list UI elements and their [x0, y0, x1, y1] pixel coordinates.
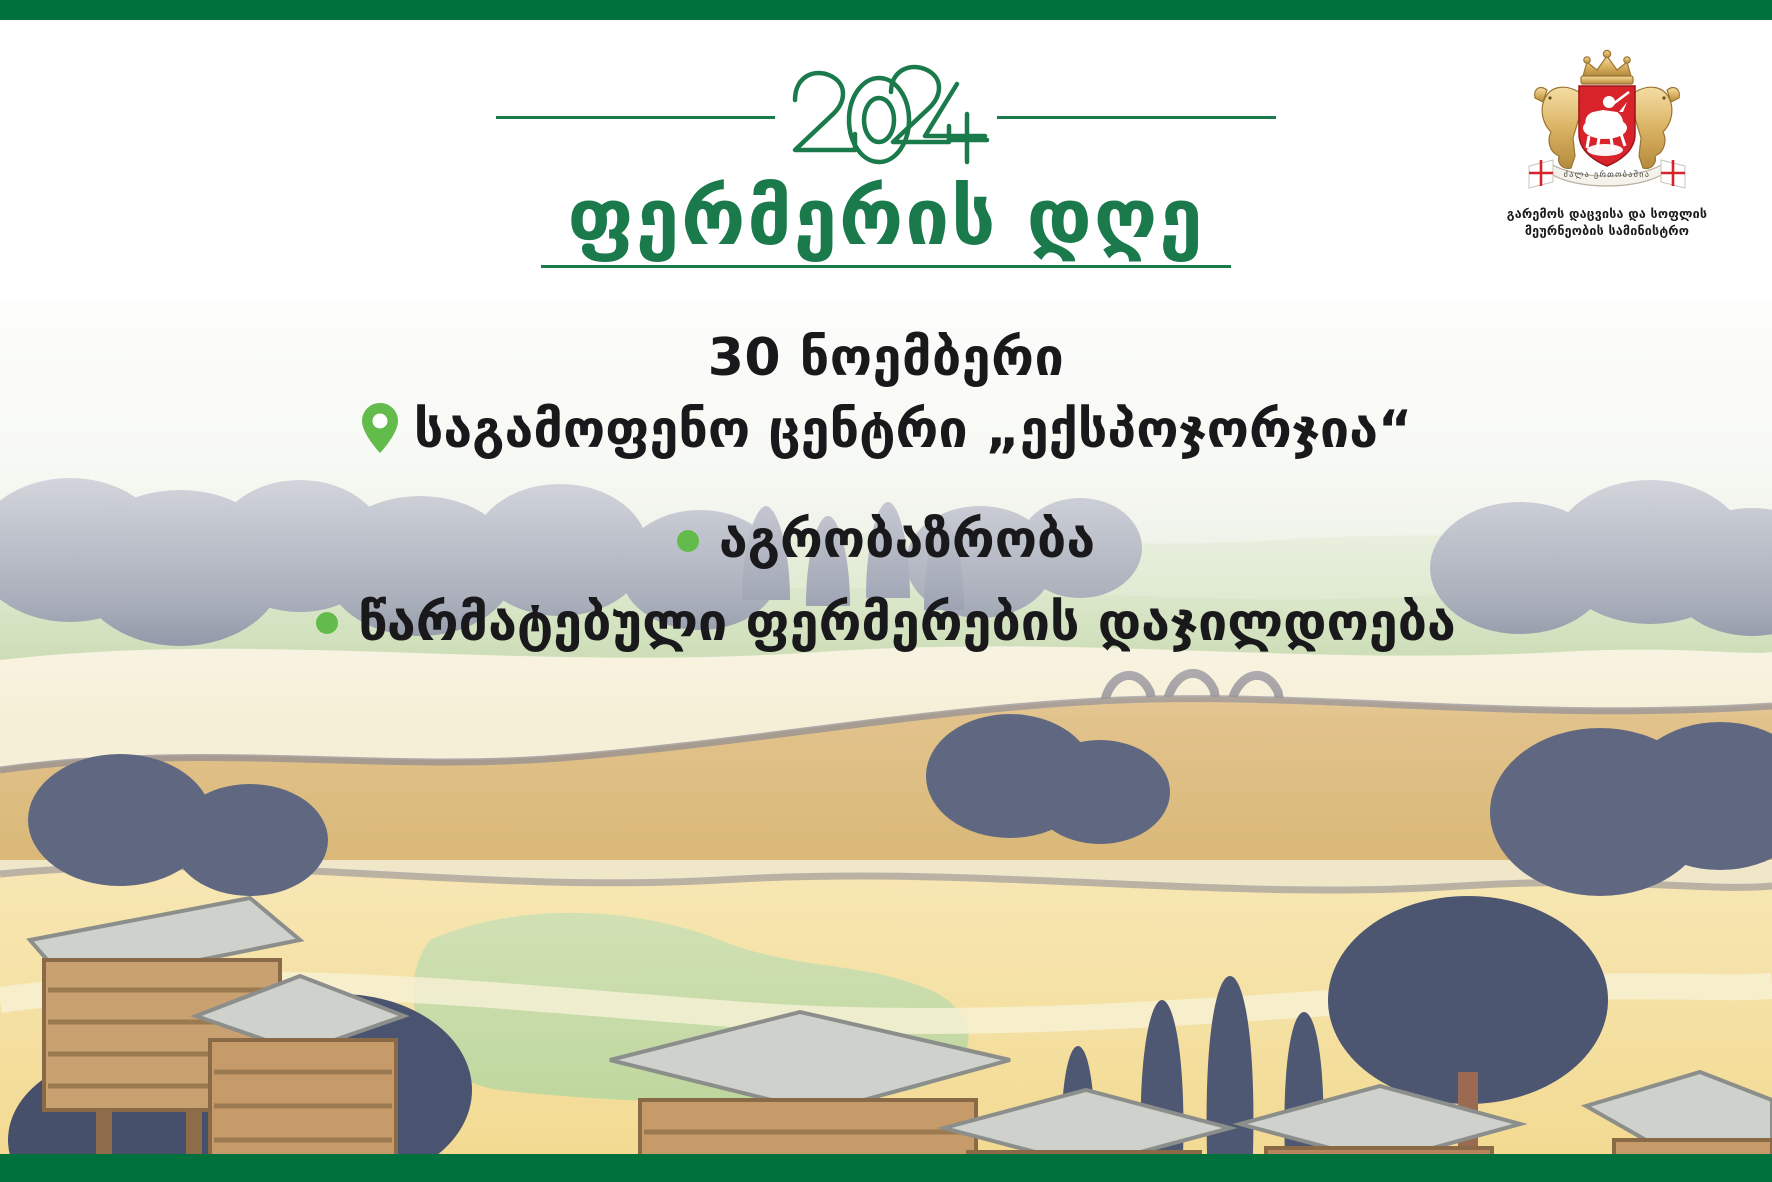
event-highlights-list: აგრობაზრობა წარმატებული ფერმერების დაჯილ…: [0, 511, 1772, 651]
poster: ფერმერის დღე: [0, 0, 1772, 1182]
logo-rule-right: [997, 116, 1276, 119]
event-venue-label: საგამოფენო ცენტრი „ექსპოჯორჯია“: [414, 401, 1412, 459]
ministry-name-line-1: გარემოს დაცვისა და სოფლის: [1507, 206, 1707, 223]
svg-text:ძალა ერთობაშია: ძალა ერთობაშია: [1564, 169, 1651, 179]
list-item: აგრობაზრობა: [677, 511, 1095, 569]
list-item: წარმატებული ფერმერების დაჯილდოება: [316, 594, 1456, 652]
highlight-label: წარმატებული ფერმერების დაჯილდოება: [358, 594, 1456, 652]
top-brand-rule: [0, 0, 1772, 20]
year-mark-row: [496, 58, 1276, 176]
highlight-label: აგრობაზრობა: [719, 511, 1095, 569]
map-pin-icon: [360, 401, 400, 455]
dot-bullet-icon: [316, 612, 338, 634]
title-underline: [541, 265, 1231, 268]
logo-rule-left: [496, 116, 775, 119]
event-venue-row: საგამოფენო ცენტრი „ექსპოჯორჯია“: [0, 401, 1772, 459]
event-details: 30 ნოემბერი საგამოფენო ცენტრი „ექსპოჯორჯ…: [0, 330, 1772, 652]
event-date: 30 ნოემბერი: [0, 330, 1772, 387]
georgia-coat-of-arms: ძალა ერთობაშია: [1517, 46, 1697, 206]
dot-bullet-icon: [677, 530, 699, 552]
ministry-emblem-block: ძალა ერთობაშია გარემოს დაცვისა და სოფლის…: [1482, 46, 1732, 240]
ministry-name-line-2: მეურნეობის სამინისტრო: [1525, 223, 1689, 240]
header-band: ფერმერის დღე: [0, 20, 1772, 300]
bottom-brand-rule: [0, 1154, 1772, 1182]
event-title: ფერმერის დღე: [567, 178, 1204, 259]
year-2024-outline-logo: [771, 58, 1001, 176]
